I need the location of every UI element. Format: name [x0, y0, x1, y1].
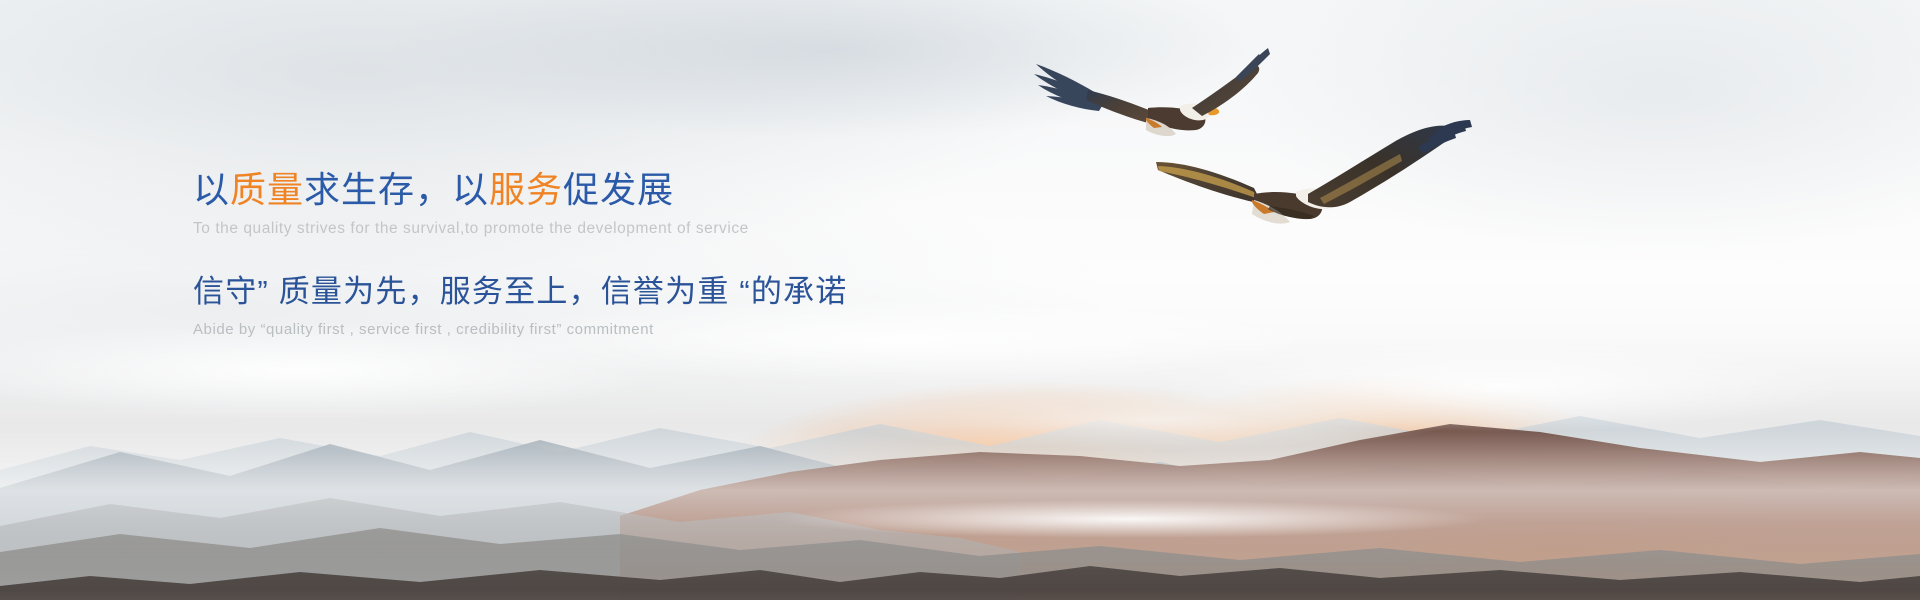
headline-accent-service: 服务 — [489, 169, 563, 210]
headline-part-5: 促发展 — [563, 169, 674, 210]
headline-secondary: 信守” 质量为先，服务至上，信誉为重 “的承诺 — [193, 272, 1173, 312]
subtitle-primary: To the quality strives for the survival,… — [193, 218, 1173, 240]
banner-copy: 以质量求生存，以服务促发展 To the quality strives for… — [193, 168, 1173, 341]
headline-primary: 以质量求生存，以服务促发展 — [193, 168, 1173, 212]
headline-part-3: 求生存，以 — [304, 169, 489, 210]
eagle-lower-icon — [1150, 120, 1480, 255]
subtitle-secondary: Abide by “quality first , service first … — [193, 319, 1173, 341]
headline-accent-quality: 质量 — [230, 169, 304, 210]
headline-part-1: 以 — [193, 169, 230, 210]
hero-banner: 以质量求生存，以服务促发展 To the quality strives for… — [0, 0, 1920, 600]
